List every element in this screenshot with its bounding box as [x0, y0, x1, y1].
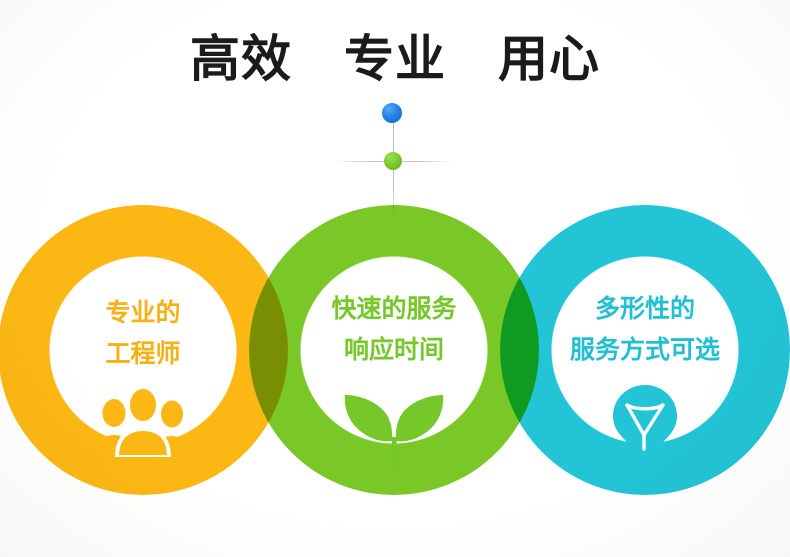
card-response: 快速的服务 响应时间 [249, 205, 539, 495]
card-response-icon-box [249, 385, 539, 475]
card-engineers-line-2: 工程师 [0, 334, 288, 375]
card-engineers-text: 专业的 工程师 [0, 293, 288, 375]
card-engineers: 专业的 工程师 [0, 205, 288, 495]
card-flexible-line-1: 多形性的 [500, 289, 790, 330]
card-flexible-line-2: 服务方式可选 [500, 330, 790, 371]
card-response-line-2: 响应时间 [249, 330, 539, 371]
card-response-line-1: 快速的服务 [249, 289, 539, 330]
card-flexible: 多形性的 服务方式可选 [500, 205, 790, 495]
sprout-icon [342, 385, 446, 475]
lightbulb-icon [607, 383, 683, 465]
card-flexible-icon-box [500, 383, 790, 465]
card-engineers-icon-box [0, 387, 288, 457]
card-flexible-text: 多形性的 服务方式可选 [500, 289, 790, 371]
people-icon [93, 387, 193, 457]
poster-canvas: 高效专业用心 专业的 工程师 [0, 0, 790, 557]
card-engineers-line-1: 专业的 [0, 293, 288, 334]
card-response-text: 快速的服务 响应时间 [249, 289, 539, 371]
